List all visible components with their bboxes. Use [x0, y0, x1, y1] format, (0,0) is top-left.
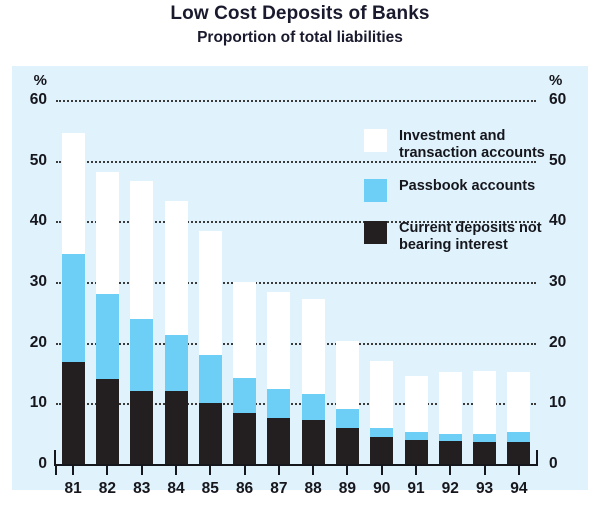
x-tick-85: [209, 465, 211, 475]
title-block: Low Cost Deposits of Banks Proportion of…: [0, 2, 600, 48]
bar-segment-white-88: [302, 299, 325, 394]
bar-segment-blue-92: [439, 434, 462, 441]
bar-segment-blue-94: [507, 432, 530, 442]
bar-segment-black-85: [199, 403, 222, 464]
gridline-60: [56, 100, 536, 102]
bar-segment-white-87: [267, 292, 290, 389]
chart-legend: Investment and transaction accountsPassb…: [364, 128, 564, 270]
bar-segment-blue-83: [130, 319, 153, 391]
bar-segment-blue-88: [302, 394, 325, 421]
y-tick-label-left-20: 20: [30, 335, 47, 351]
gridline-30: [56, 282, 536, 284]
legend-swatch-white: [364, 129, 387, 152]
chart-figure: Low Cost Deposits of Banks Proportion of…: [0, 0, 600, 520]
bar-segment-black-93: [473, 442, 496, 464]
y-tick-label-left-50: 50: [30, 153, 47, 169]
chart-subtitle: Proportion of total liabilities: [0, 27, 600, 48]
bar-segment-blue-91: [405, 432, 428, 440]
y-tick-label-right-30: 30: [549, 274, 566, 290]
legend-swatch-blue: [364, 179, 387, 202]
bar-segment-blue-93: [473, 434, 496, 441]
bar-segment-blue-85: [199, 355, 222, 403]
bar-segment-black-94: [507, 442, 530, 464]
bar-segment-blue-86: [233, 378, 256, 413]
y-tick-label-left-40: 40: [30, 213, 47, 229]
legend-investment-transaction-label: Investment and transaction accounts: [399, 128, 564, 162]
bar-segment-black-87: [267, 418, 290, 464]
legend-passbook-label: Passbook accounts: [399, 178, 564, 195]
y-tick-label-left-10: 10: [30, 395, 47, 411]
legend-swatch-black: [364, 221, 387, 244]
bar-segment-black-92: [439, 441, 462, 464]
legend-current-deposits[interactable]: Current deposits not bearing interest: [364, 220, 564, 254]
x-tick-92: [449, 465, 451, 475]
legend-investment-transaction[interactable]: Investment and transaction accounts: [364, 128, 564, 162]
bar-segment-blue-90: [370, 428, 393, 436]
axis-unit-left: %: [34, 72, 47, 89]
y-tick-label-right-0: 0: [549, 456, 558, 472]
legend-current-deposits-label: Current deposits not bearing interest: [399, 220, 564, 254]
x-tick-86: [244, 465, 246, 475]
bar-segment-white-91: [405, 376, 428, 432]
bar-segment-white-94: [507, 372, 530, 432]
bar-segment-blue-89: [336, 409, 359, 428]
bar-segment-black-91: [405, 440, 428, 464]
bar-segment-black-86: [233, 413, 256, 464]
bar-segment-white-83: [130, 181, 153, 319]
y-axis-left-stub: [54, 450, 56, 466]
bar-segment-white-90: [370, 361, 393, 428]
x-axis-line: [54, 464, 538, 466]
y-tick-label-right-60: 60: [549, 92, 566, 108]
bar-segment-blue-84: [165, 335, 188, 390]
x-tick-83: [141, 465, 143, 475]
bar-segment-black-88: [302, 420, 325, 464]
x-tick-81: [72, 465, 74, 475]
bar-segment-blue-81: [62, 254, 85, 362]
bar-segment-blue-87: [267, 389, 290, 418]
bar-segment-black-83: [130, 391, 153, 464]
bar-segment-white-84: [165, 201, 188, 336]
bar-segment-black-82: [96, 379, 119, 464]
gridline-10: [56, 403, 536, 405]
x-tick-88: [312, 465, 314, 475]
x-tick-89: [346, 465, 348, 475]
x-tick-origin: [55, 465, 57, 475]
bar-segment-black-90: [370, 437, 393, 464]
x-tick-91: [415, 465, 417, 475]
x-tick-90: [381, 465, 383, 475]
bar-segment-black-89: [336, 428, 359, 464]
bar-segment-white-81: [62, 133, 85, 254]
y-tick-label-left-60: 60: [30, 92, 47, 108]
x-tick-82: [106, 465, 108, 475]
x-tick-84: [175, 465, 177, 475]
bar-segment-blue-82: [96, 294, 119, 379]
bar-segment-black-84: [165, 391, 188, 464]
bar-segment-white-93: [473, 371, 496, 434]
bar-segment-white-89: [336, 341, 359, 408]
x-tick-label-94: 94: [499, 480, 539, 498]
x-tick-93: [484, 465, 486, 475]
bar-segment-white-92: [439, 372, 462, 433]
y-tick-label-right-10: 10: [549, 395, 566, 411]
bar-segment-white-86: [233, 282, 256, 378]
legend-passbook[interactable]: Passbook accounts: [364, 178, 564, 204]
bar-segment-white-85: [199, 231, 222, 355]
x-tick-87: [278, 465, 280, 475]
y-tick-label-right-20: 20: [549, 335, 566, 351]
page-title: Low Cost Deposits of Banks: [0, 2, 600, 26]
y-axis-right-stub: [536, 450, 538, 466]
bar-segment-black-81: [62, 362, 85, 464]
x-tick-94: [518, 465, 520, 475]
y-tick-label-left-0: 0: [38, 456, 47, 472]
bar-segment-white-82: [96, 172, 119, 294]
y-tick-label-left-30: 30: [30, 274, 47, 290]
gridline-20: [56, 343, 536, 345]
plot-panel: 00101020203030404050506060%%818283848586…: [12, 66, 588, 490]
axis-unit-right: %: [549, 72, 562, 89]
